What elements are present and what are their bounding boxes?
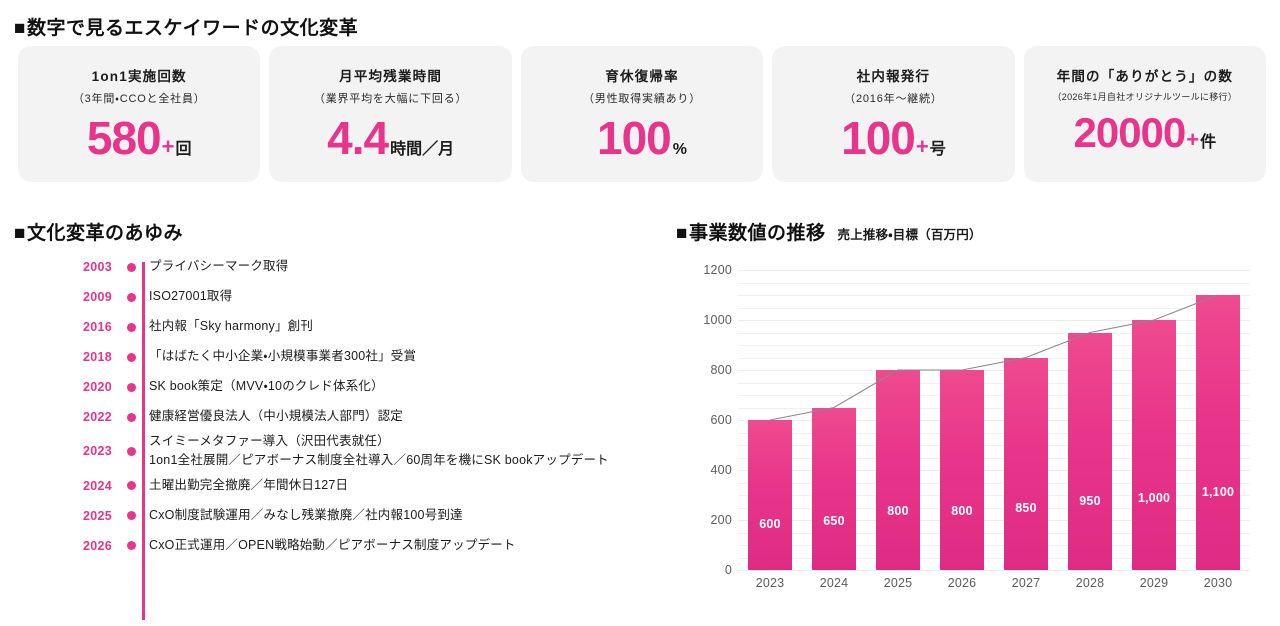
stat-card-title: 育休復帰率 — [605, 65, 679, 85]
timeline-text-line1: ISO27001取得 — [149, 289, 232, 303]
chart-bar-cell: 950 — [1058, 270, 1122, 570]
stat-value-number: 100 — [597, 115, 671, 161]
timeline-year: 2016 — [14, 320, 122, 334]
stat-card-title: 年間の「ありがとう」の数 — [1057, 65, 1233, 85]
chart-bar-value-label: 850 — [1004, 501, 1048, 515]
timeline-text-line1: CxO制度試験運用／みなし残業撤廃／社内報100号到達 — [149, 508, 463, 522]
chart-bar[interactable]: 600 — [748, 420, 792, 570]
chart-x-tick: 2024 — [802, 576, 866, 590]
stat-card-value: 100 % — [597, 115, 687, 161]
timeline-dot-icon — [122, 481, 140, 490]
chart-y-tick: 200 — [711, 513, 732, 527]
stat-card-note: （3年間・CCOと全社員） — [73, 90, 206, 106]
timeline-item: 2026 CxO正式運用／OPEN戦略始動／ピアボーナス制度アップデート — [14, 531, 664, 561]
timeline-text: スイミーメタファー導入（沢田代表就任） 1on1全社展開／ピアボーナス制度全社導… — [140, 432, 664, 471]
chart-y-tick: 800 — [711, 363, 732, 377]
chart-x-tick: 2028 — [1058, 576, 1122, 590]
stat-card-note: （2026年1月自社オリジナルツールに移行） — [1053, 90, 1238, 103]
chart-bar-value-label: 950 — [1068, 494, 1112, 508]
chart-bar[interactable]: 850 — [1004, 358, 1048, 571]
chart-bar-value-label: 650 — [812, 514, 856, 528]
timeline-text-line1: CxO正式運用／OPEN戦略始動／ピアボーナス制度アップデート — [149, 538, 516, 552]
stat-card-overtime: 月平均残業時間 （業界平均を大幅に下回る） 4.4 時間／月 — [269, 46, 511, 182]
chart-y-tick: 0 — [725, 563, 732, 577]
timeline-section-title: ■文化変革のあゆみ — [14, 218, 183, 245]
timeline-text: SK book策定（MVV・10のクレド体系化） — [140, 377, 664, 396]
chart-gridline — [738, 570, 1250, 571]
chart-bar-cell: 1,000 — [1122, 270, 1186, 570]
timeline-dot-icon — [122, 541, 140, 550]
stat-card-note: （業界平均を大幅に下回る） — [314, 90, 467, 106]
chart-x-tick: 2027 — [994, 576, 1058, 590]
chart-bar-value-label: 1,000 — [1132, 491, 1176, 505]
timeline-item: 2018 「はばたく中小企業・小規模事業者300社」受賞 — [14, 342, 664, 372]
chart-bar-value-label: 800 — [940, 504, 984, 518]
chart-bar-cell: 850 — [994, 270, 1058, 570]
chart-bar-cell: 800 — [930, 270, 994, 570]
timeline-dot-icon — [122, 293, 140, 302]
chart-section-title: ■事業数値の推移売上推移・目標（百万円） — [676, 218, 982, 245]
chart-x-tick: 2025 — [866, 576, 930, 590]
chart-bar-value-label: 800 — [876, 504, 920, 518]
page-title-text: 数字で見るエスケイワードの文化変革 — [27, 18, 358, 39]
bullet-square-icon: ■ — [14, 18, 26, 39]
chart-subtitle: 売上推移・目標（百万円） — [838, 228, 982, 242]
stat-card-value: 4.4 時間／月 — [327, 115, 454, 161]
timeline-text: 健康経営優良法人（中小規模法人部門）認定 — [140, 407, 664, 426]
chart-bar-cell: 800 — [866, 270, 930, 570]
timeline-item: 2025 CxO制度試験運用／みなし残業撤廃／社内報100号到達 — [14, 501, 664, 531]
chart-x-tick: 2030 — [1186, 576, 1250, 590]
timeline-text: CxO制度試験運用／みなし残業撤廃／社内報100号到達 — [140, 506, 664, 525]
chart-bar[interactable]: 1,000 — [1132, 320, 1176, 570]
chart-bar[interactable]: 950 — [1068, 333, 1112, 571]
stat-card-note: （2016年～継続） — [844, 90, 942, 106]
timeline-list: 2003 プライバシーマーク取得 2009 ISO27001取得 2016 社内… — [14, 252, 664, 622]
stat-card-note: （男性取得実績あり） — [583, 90, 701, 106]
chart-bar[interactable]: 650 — [812, 408, 856, 571]
timeline-text-line1: スイミーメタファー導入（沢田代表就任） — [149, 434, 390, 448]
chart-bar-cell: 1,100 — [1186, 270, 1250, 570]
timeline-dot-icon — [122, 383, 140, 392]
timeline-item: 2020 SK book策定（MVV・10のクレド体系化） — [14, 372, 664, 402]
timeline-text-line1: 土曜出勤完全撤廃／年間休日127日 — [149, 478, 348, 492]
stat-value-plus: + — [1186, 129, 1199, 151]
chart-bar-cell: 650 — [802, 270, 866, 570]
stat-value-unit: 回 — [176, 142, 192, 158]
timeline-dot-icon — [122, 511, 140, 520]
stat-value-unit: 号 — [930, 142, 946, 158]
stat-value-number: 20000 — [1073, 112, 1185, 154]
timeline-text: 土曜出勤完全撤廃／年間休日127日 — [140, 476, 664, 495]
timeline-text-line1: 「はばたく中小企業・小規模事業者300社」受賞 — [149, 349, 416, 363]
chart-x-axis-labels: 20232024202520262027202820292030 — [738, 576, 1250, 590]
stat-value-unit: 件 — [1200, 135, 1216, 151]
chart-bar-cell: 600 — [738, 270, 802, 570]
timeline-dot-icon — [122, 263, 140, 272]
stat-card-newsletter: 社内報発行 （2016年～継続） 100 + 号 — [772, 46, 1014, 182]
timeline-item: 2024 土曜出勤完全撤廃／年間休日127日 — [14, 471, 664, 501]
stat-card-1on1: 1on1実施回数 （3年間・CCOと全社員） 580 + 回 — [18, 46, 260, 182]
timeline-year: 2023 — [14, 444, 122, 458]
timeline-text-line2: 1on1全社展開／ピアボーナス制度全社導入／60周年を機にSK bookアップデ… — [149, 451, 664, 470]
timeline-dot-icon — [122, 323, 140, 332]
stat-value-number: 580 — [87, 115, 161, 161]
stat-card-title: 社内報発行 — [857, 65, 931, 85]
chart-y-tick: 1000 — [703, 313, 732, 327]
timeline-item: 2009 ISO27001取得 — [14, 282, 664, 312]
timeline-dot-icon — [122, 353, 140, 362]
stat-value-unit: 時間／月 — [390, 142, 454, 158]
stat-value-unit: % — [673, 142, 687, 158]
timeline-text: ISO27001取得 — [140, 287, 664, 306]
timeline-item: 2022 健康経営優良法人（中小規模法人部門）認定 — [14, 402, 664, 432]
chart-bar[interactable]: 800 — [876, 370, 920, 570]
chart-x-tick: 2026 — [930, 576, 994, 590]
timeline-text-line1: 健康経営優良法人（中小規模法人部門）認定 — [149, 409, 403, 423]
timeline-year: 2026 — [14, 539, 122, 553]
bullet-square-icon: ■ — [14, 223, 26, 244]
timeline-year: 2025 — [14, 509, 122, 523]
chart-bars: 6006508008008509501,0001,100 — [738, 270, 1250, 570]
timeline-dot-icon — [122, 413, 140, 422]
timeline-item: 2003 プライバシーマーク取得 — [14, 252, 664, 282]
timeline-text: 社内報「Sky harmony」創刊 — [140, 317, 664, 336]
stat-card-list: 1on1実施回数 （3年間・CCOと全社員） 580 + 回 月平均残業時間 （… — [18, 46, 1266, 182]
stat-value-plus: + — [916, 136, 929, 158]
infographic-page: ■数字で見るエスケイワードの文化変革 1on1実施回数 （3年間・CCOと全社員… — [0, 0, 1280, 626]
bullet-square-icon: ■ — [676, 223, 688, 244]
timeline-title-text: 文化変革のあゆみ — [27, 223, 183, 244]
chart-title-text: 事業数値の推移 — [689, 223, 826, 244]
chart-bar[interactable]: 800 — [940, 370, 984, 570]
chart-y-axis-labels: 020040060080010001200 — [676, 270, 732, 570]
timeline-year: 2024 — [14, 479, 122, 493]
timeline-text: プライバシーマーク取得 — [140, 257, 664, 276]
stat-card-title: 1on1実施回数 — [92, 65, 187, 85]
timeline-text: 「はばたく中小企業・小規模事業者300社」受賞 — [140, 347, 664, 366]
timeline-year: 2020 — [14, 380, 122, 394]
timeline-text: CxO正式運用／OPEN戦略始動／ピアボーナス制度アップデート — [140, 536, 664, 555]
chart-y-tick: 600 — [711, 413, 732, 427]
timeline-dot-icon — [122, 447, 140, 456]
chart-y-tick: 400 — [711, 463, 732, 477]
timeline-year: 2018 — [14, 350, 122, 364]
timeline-text-line1: SK book策定（MVV・10のクレド体系化） — [149, 379, 384, 393]
chart-bar-value-label: 600 — [748, 517, 792, 531]
chart-plot-area: 6006508008008509501,0001,100 — [738, 270, 1250, 570]
stat-value-plus: + — [162, 136, 175, 158]
timeline-year: 2022 — [14, 410, 122, 424]
stat-card-value: 20000 + 件 — [1073, 112, 1216, 154]
chart-bar[interactable]: 1,100 — [1196, 295, 1240, 570]
stat-card-childcare-return: 育休復帰率 （男性取得実績あり） 100 % — [521, 46, 763, 182]
page-title: ■数字で見るエスケイワードの文化変革 — [14, 13, 358, 40]
timeline-year: 2003 — [14, 260, 122, 274]
stat-card-thanks: 年間の「ありがとう」の数 （2026年1月自社オリジナルツールに移行） 2000… — [1024, 46, 1266, 182]
timeline-year: 2009 — [14, 290, 122, 304]
timeline-item: 2023 スイミーメタファー導入（沢田代表就任） 1on1全社展開／ピアボーナス… — [14, 432, 664, 471]
stat-card-value: 580 + 回 — [87, 115, 192, 161]
stat-value-number: 4.4 — [327, 115, 388, 161]
stat-card-title: 月平均残業時間 — [339, 65, 442, 85]
timeline-text-line1: 社内報「Sky harmony」創刊 — [149, 319, 313, 333]
timeline-item: 2016 社内報「Sky harmony」創刊 — [14, 312, 664, 342]
chart-bar-value-label: 1,100 — [1196, 485, 1240, 499]
chart-x-tick: 2029 — [1122, 576, 1186, 590]
timeline-text-line1: プライバシーマーク取得 — [149, 259, 288, 273]
chart-y-tick: 1200 — [703, 263, 732, 277]
stat-value-number: 100 — [841, 115, 915, 161]
stat-card-value: 100 + 号 — [841, 115, 946, 161]
chart-x-tick: 2023 — [738, 576, 802, 590]
revenue-bar-chart: 020040060080010001200 600650800800850950… — [676, 258, 1272, 610]
